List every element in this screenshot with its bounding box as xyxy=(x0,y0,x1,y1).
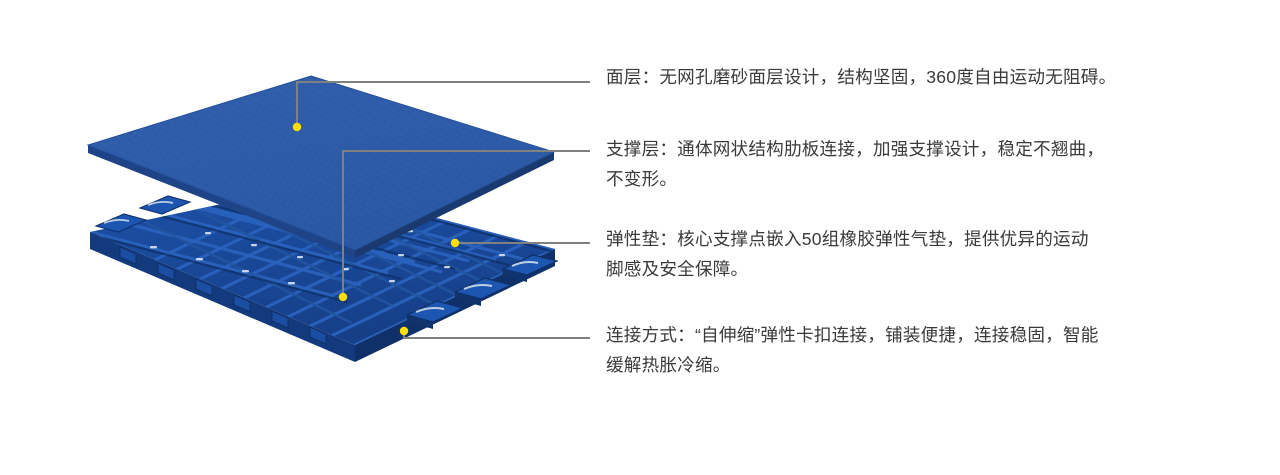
marker-surface xyxy=(293,123,301,131)
callout-text-surface-layer: 面层：无网孔磨砂面层设计，结构坚固，360度自由运动无阻碍。 xyxy=(606,62,1246,92)
product-exploded-illustration xyxy=(0,0,600,475)
marker-connection xyxy=(400,327,408,335)
product-diagram-page: 面层：无网孔磨砂面层设计，结构坚固，360度自由运动无阻碍。 支撑层：通体网状结… xyxy=(0,0,1280,475)
callout-text-elastic-pad: 弹性垫：核心支撑点嵌入50组橡胶弹性气垫，提供优异的运动 脚感及安全保障。 xyxy=(606,224,1246,284)
marker-elastic-pad xyxy=(451,239,459,247)
callout-text-connection-method: 连接方式：“自伸缩”弹性卡扣连接，铺装便捷，连接稳固，智能 缓解热胀冷缩。 xyxy=(606,320,1246,380)
marker-support xyxy=(339,293,347,301)
callout-text-column: 面层：无网孔磨砂面层设计，结构坚固，360度自由运动无阻碍。 支撑层：通体网状结… xyxy=(606,0,1266,475)
leader-line-connection xyxy=(404,331,590,338)
callout-text-support-layer: 支撑层：通体网状结构肋板连接，加强支撑设计，稳定不翘曲， 不变形。 xyxy=(606,134,1246,194)
